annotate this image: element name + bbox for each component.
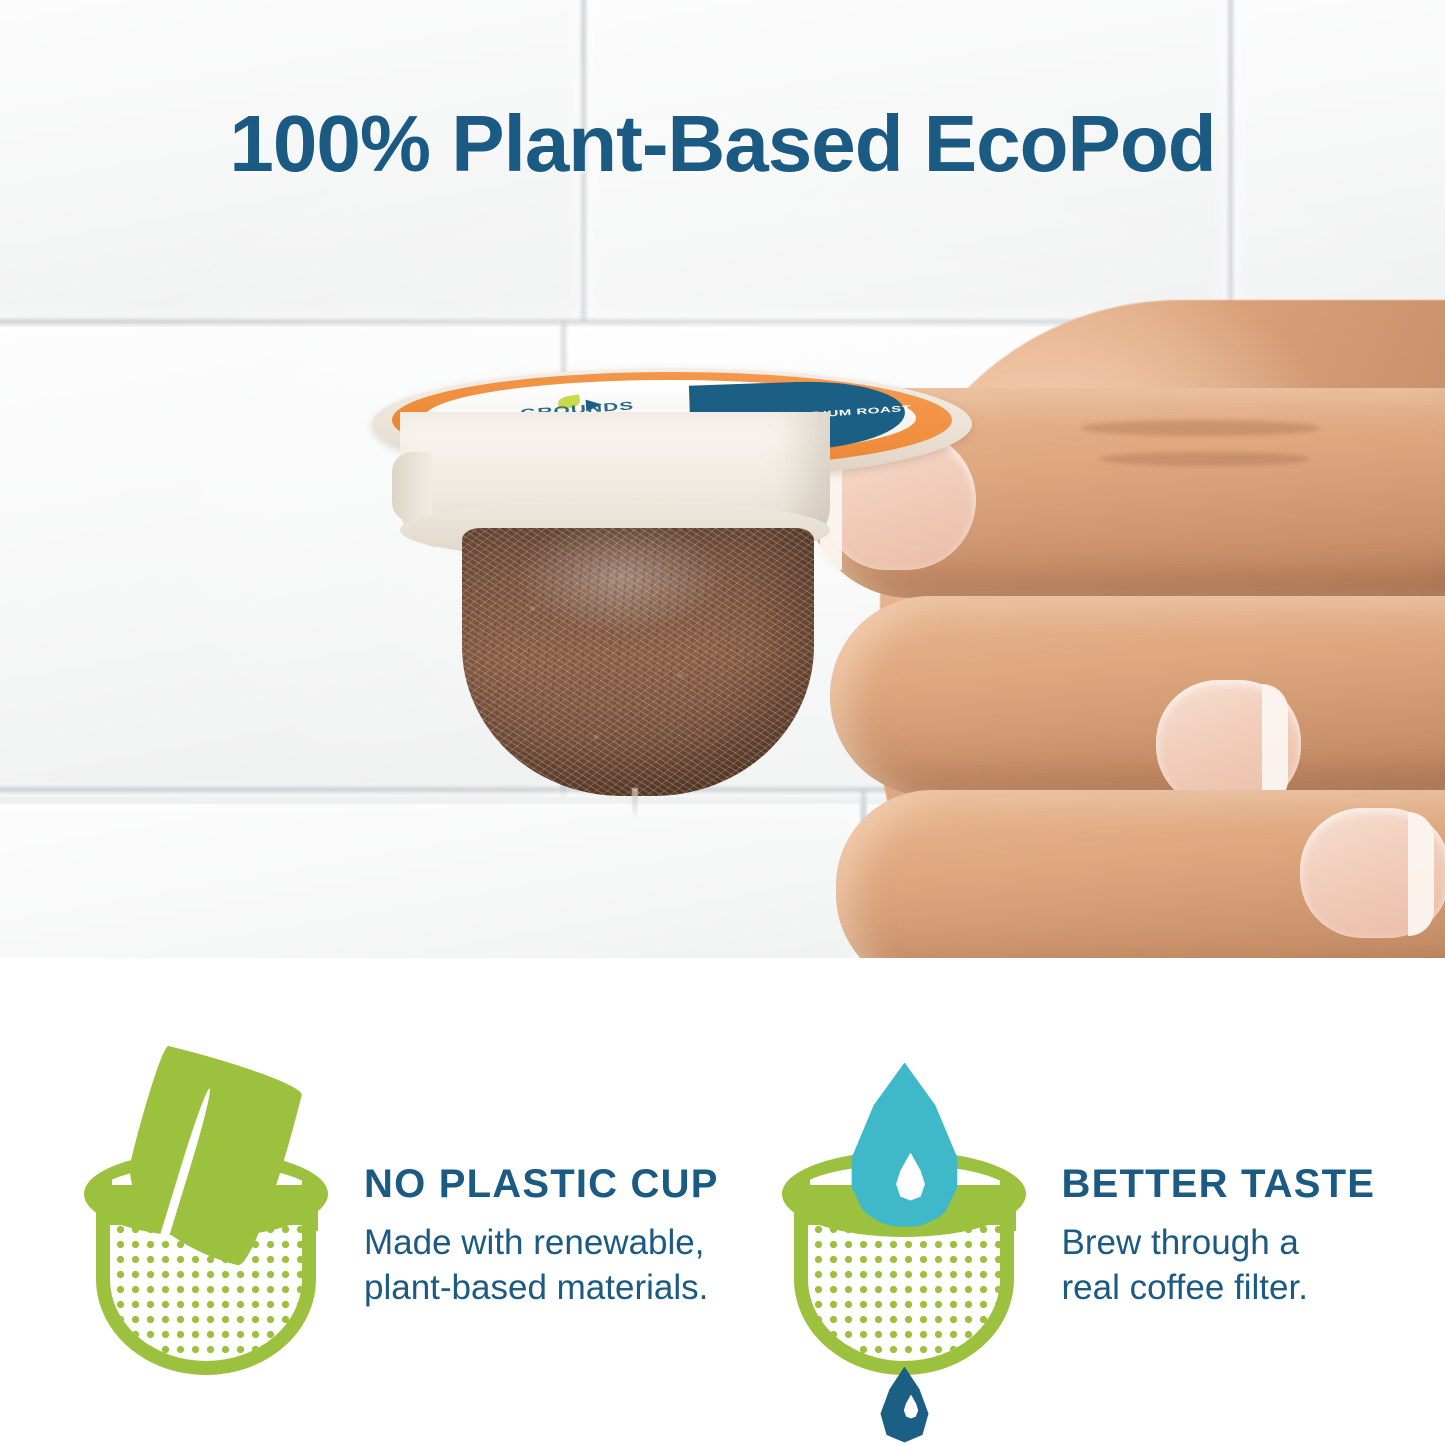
feature-text-block: NO PLASTIC CUP Made with renewable, plan… (364, 1128, 719, 1311)
skin-crease (1100, 452, 1310, 466)
page-title: 100% Plant-Based EcoPod (0, 98, 1445, 190)
pod-filter-bag (462, 528, 814, 796)
pod-fiber-wisp (632, 788, 638, 818)
feature-better-taste: BETTER TASTE Brew through a real coffee … (748, 958, 1445, 1445)
feature-text-block: BETTER TASTE Brew through a real coffee … (1062, 1128, 1376, 1311)
water-drop-over-filter-basket-icon (774, 1055, 1036, 1385)
coffee-drop-icon (880, 1367, 930, 1443)
feature-description-line: Made with renewable, (364, 1221, 719, 1266)
feature-description-line: plant-based materials. (364, 1266, 719, 1311)
filter-mesh-dots (808, 1219, 1000, 1361)
product-feature-graphic: GROUNDS MEDIUM ROAST 100% Plant-Based Ec… (0, 0, 1445, 1445)
index-finger-nail-tip (1262, 684, 1288, 806)
feature-title: NO PLASTIC CUP (364, 1162, 719, 1207)
product-photo: GROUNDS MEDIUM ROAST 100% Plant-Based Ec… (0, 0, 1445, 958)
feature-no-plastic-cup: NO PLASTIC CUP Made with renewable, plan… (0, 958, 748, 1445)
feature-description-line: Brew through a (1062, 1221, 1376, 1266)
index-finger (830, 596, 1445, 796)
skin-crease (1080, 420, 1320, 436)
feature-title: BETTER TASTE (1062, 1162, 1376, 1207)
pod-collar-lip (392, 452, 432, 522)
leaf-in-filter-basket-icon (76, 1055, 338, 1385)
middle-finger-nail-tip (1408, 812, 1434, 936)
water-drop-icon (850, 1063, 960, 1227)
feature-description: Brew through a real coffee filter. (1062, 1221, 1376, 1311)
feature-description: Made with renewable, plant-based materia… (364, 1221, 719, 1311)
feature-description-line: real coffee filter. (1062, 1266, 1376, 1311)
feature-row: NO PLASTIC CUP Made with renewable, plan… (0, 958, 1445, 1445)
